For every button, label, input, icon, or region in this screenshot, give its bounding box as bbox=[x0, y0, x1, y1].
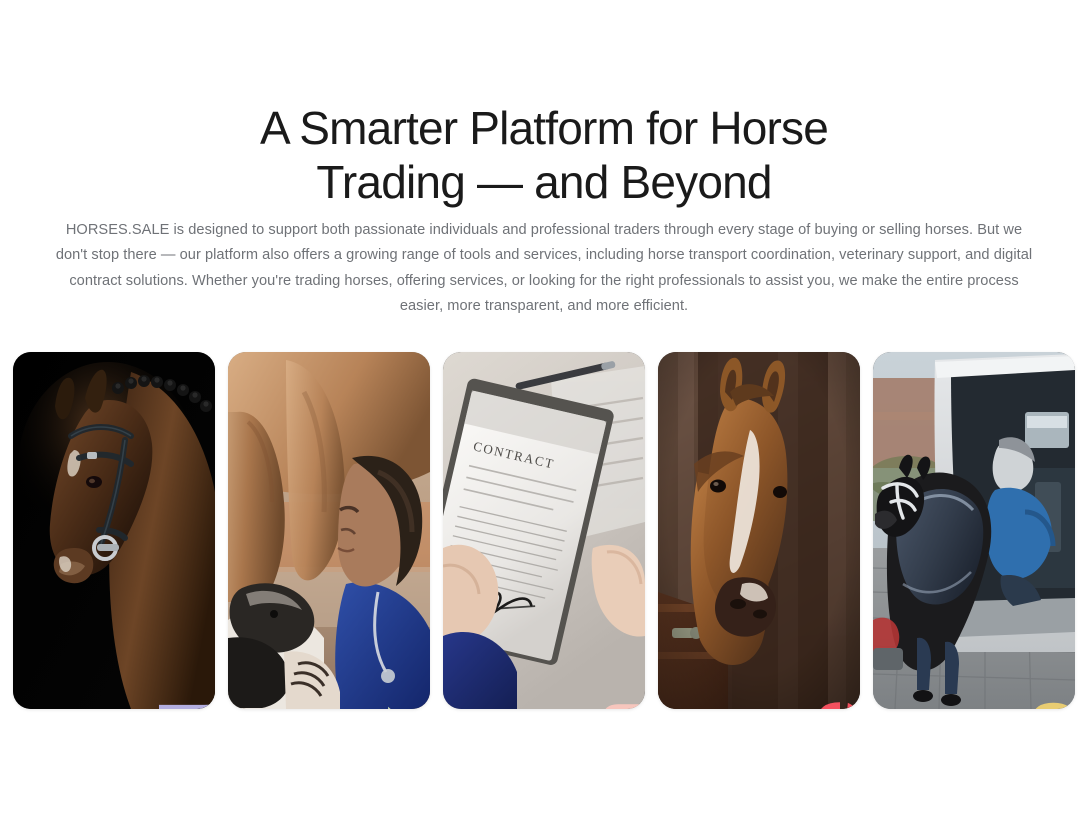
service-card-sign[interactable]: CONTRACT bbox=[443, 352, 645, 709]
service-card-ship[interactable]: Ship bbox=[873, 352, 1075, 709]
service-card-find[interactable]: Find bbox=[13, 352, 215, 709]
stable-horse-photo bbox=[658, 352, 860, 709]
horse-transport-photo bbox=[873, 352, 1075, 709]
hero-description: HORSES.SALE is designed to support both … bbox=[50, 218, 1038, 320]
service-card-insure[interactable]: Insure bbox=[658, 352, 860, 709]
horse-portrait-photo bbox=[13, 352, 215, 709]
contract-signing-photo: CONTRACT bbox=[443, 352, 645, 709]
landing-page-section: A Smarter Platform for Horse Trading — a… bbox=[0, 0, 1088, 816]
service-card-check[interactable]: Check bbox=[228, 352, 430, 709]
service-card-strip: Find bbox=[13, 352, 1088, 712]
veterinary-check-photo bbox=[228, 352, 430, 709]
page-title: A Smarter Platform for Horse Trading — a… bbox=[0, 101, 1088, 209]
